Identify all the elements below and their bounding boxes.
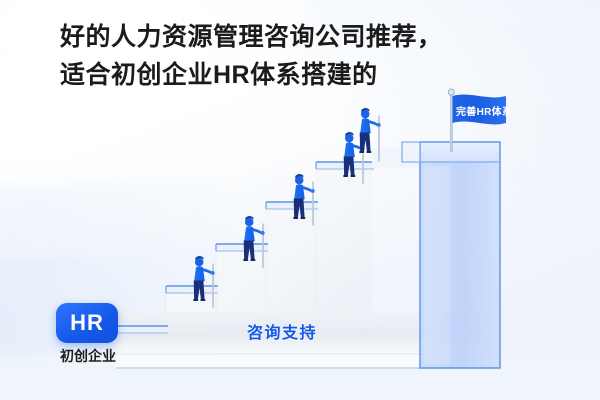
step-1 (116, 326, 168, 333)
page-title: 好的人力资源管理咨询公司推荐， 适合初创企业HR体系搭建的 (60, 18, 480, 94)
flag-pole (450, 92, 453, 152)
step-2 (166, 286, 218, 293)
title-line-2: 适合初创企业HR体系搭建的 (60, 56, 480, 94)
infographic-canvas: 好的人力资源管理咨询公司推荐， 适合初创企业HR体系搭建的 (0, 0, 600, 400)
hr-badge: HR (56, 303, 118, 343)
step-3 (216, 244, 268, 251)
step-4 (266, 202, 318, 209)
consulting-support-label: 咨询支持 (247, 319, 317, 343)
title-line-1: 好的人力资源管理咨询公司推荐， (60, 18, 480, 56)
hr-badge-text: HR (70, 310, 104, 336)
goal-flag-label: 完善HR体系 (456, 103, 512, 118)
hr-badge-caption: 初创企业 (50, 346, 126, 366)
